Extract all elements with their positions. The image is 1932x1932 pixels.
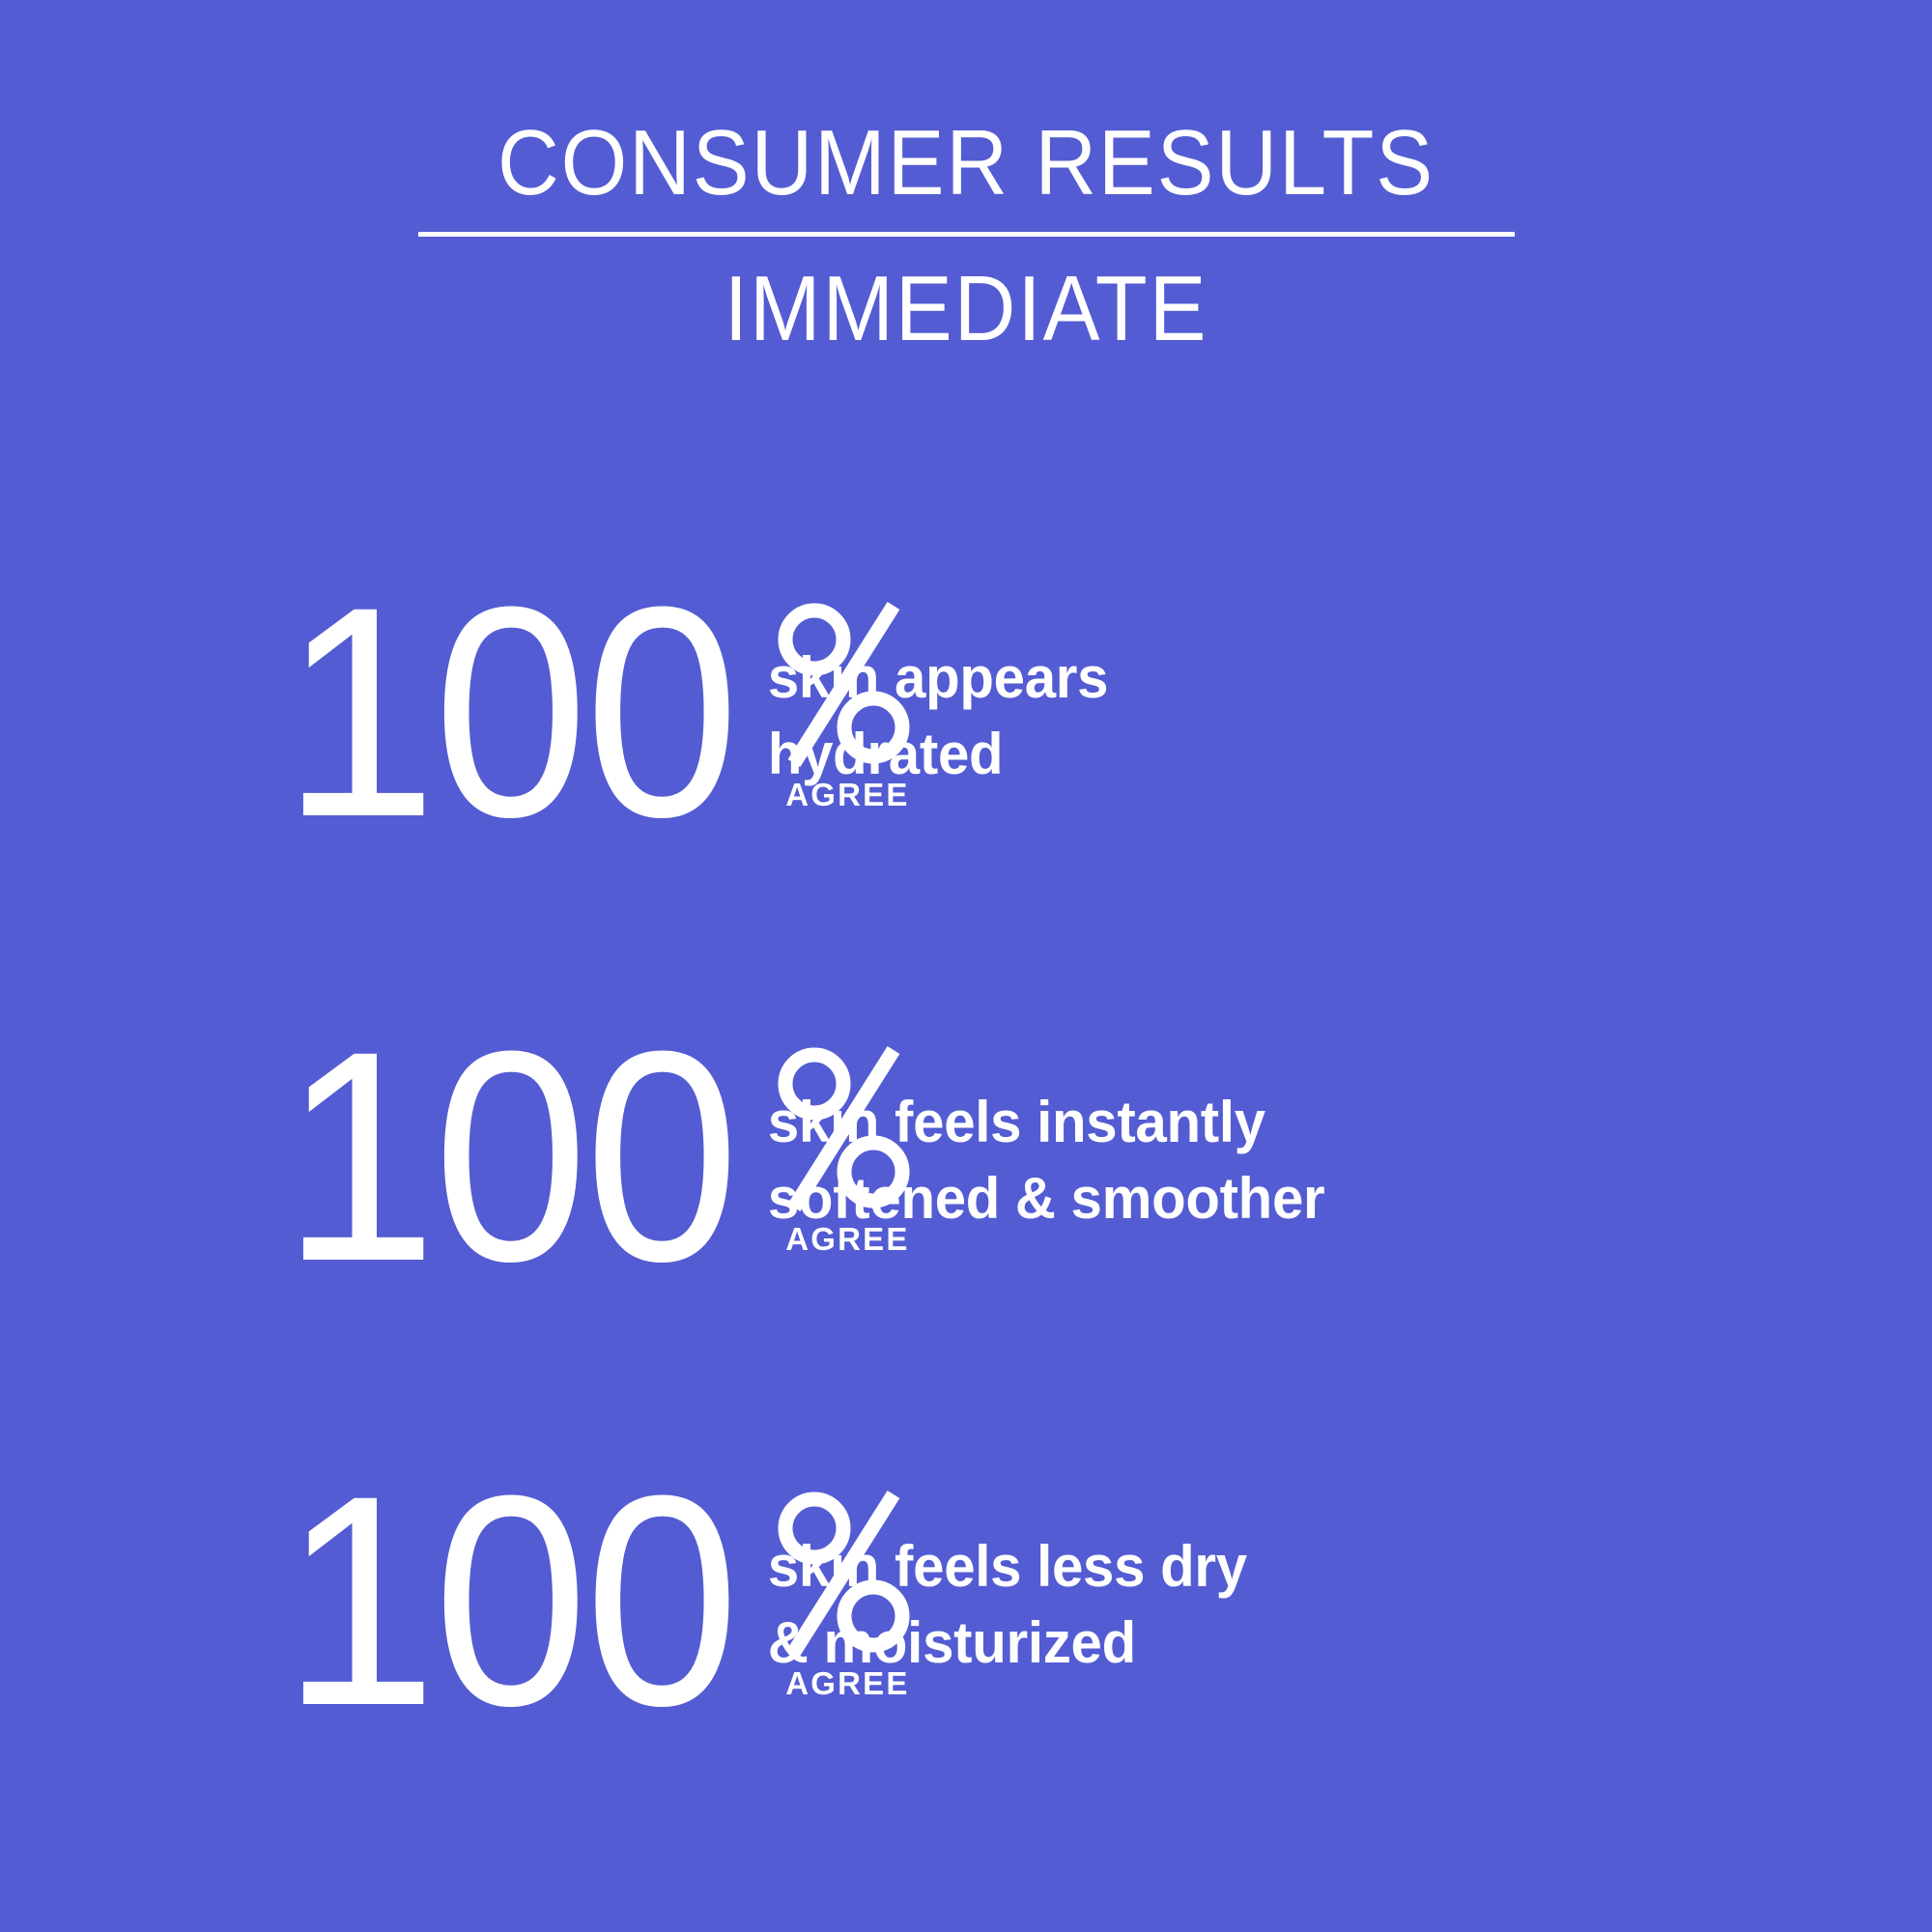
stat-description: skin appears hydrated [763, 589, 1897, 792]
stat-row: 100 AGREE skin appears hydrated [0, 589, 1932, 879]
header: CONSUMER RESULTS IMMEDIATE [0, 116, 1932, 356]
stat-description: skin feels less dry & moisturized [763, 1478, 1897, 1681]
page-subtitle: IMMEDIATE [77, 262, 1855, 356]
header-divider [418, 232, 1515, 237]
poster-canvas: CONSUMER RESULTS IMMEDIATE 100 AGREE [0, 0, 1932, 1932]
stat-figure: 100 AGREE [0, 1034, 763, 1279]
stat-value: 100 [282, 1478, 736, 1723]
stat-description-line: & moisturized [768, 1605, 1897, 1681]
divider-container [0, 232, 1932, 237]
stat-description: skin feels instantly softened & smoother [763, 1034, 1897, 1236]
stat-row: 100 AGREE skin feels less dry & moisturi… [0, 1478, 1932, 1768]
stat-value: 100 [282, 589, 736, 835]
stat-figure: 100 AGREE [0, 1478, 763, 1723]
page-title: CONSUMER RESULTS [77, 116, 1855, 211]
stat-value: 100 [282, 1034, 736, 1279]
stat-row: 100 AGREE skin feels instantly softened … [0, 1034, 1932, 1323]
stats-list: 100 AGREE skin appears hydrated 100 [0, 589, 1932, 1768]
stat-description-line: skin appears [768, 639, 1897, 716]
stat-description-line: softened & smoother [768, 1160, 1897, 1236]
stat-description-line: hydrated [768, 716, 1897, 792]
stat-figure: 100 AGREE [0, 589, 763, 835]
stat-description-line: skin feels instantly [768, 1084, 1897, 1160]
stat-description-line: skin feels less dry [768, 1528, 1897, 1605]
